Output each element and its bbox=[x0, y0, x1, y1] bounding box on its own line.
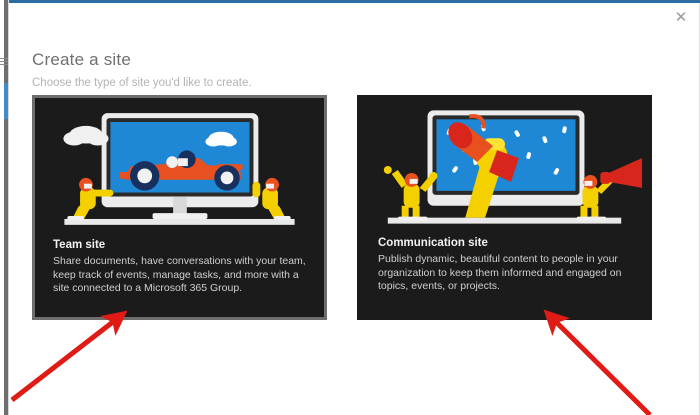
dialog-header: Create a site Choose the type of site yo… bbox=[32, 50, 452, 90]
menu-lines-icon bbox=[0, 58, 8, 67]
team-site-text: Team site Share documents, have conversa… bbox=[53, 238, 310, 296]
create-site-dialog: ✕ Create a site Choose the type of site … bbox=[0, 0, 700, 415]
card-description: Publish dynamic, beautiful content to pe… bbox=[378, 253, 637, 294]
window-accent-bar bbox=[9, 0, 700, 3]
site-type-card-communication-site[interactable]: Communication site Publish dynamic, beau… bbox=[357, 95, 652, 320]
card-description: Share documents, have conversations with… bbox=[53, 255, 310, 296]
card-title: Team site bbox=[53, 238, 310, 252]
dialog-left-border bbox=[8, 0, 9, 415]
team-site-illustration bbox=[35, 102, 324, 237]
communication-site-illustration bbox=[358, 100, 651, 235]
close-icon[interactable]: ✕ bbox=[668, 5, 694, 29]
card-title: Communication site bbox=[378, 236, 637, 250]
communication-site-text: Communication site Publish dynamic, beau… bbox=[378, 236, 637, 294]
site-type-card-team-site[interactable]: Team site Share documents, have conversa… bbox=[32, 95, 327, 320]
page-title: Create a site bbox=[32, 50, 452, 70]
page-subtitle: Choose the type of site you'd like to cr… bbox=[32, 76, 452, 90]
arrow-pointing-to-team-site bbox=[12, 318, 118, 400]
arrow-pointing-to-communication-site bbox=[552, 318, 650, 415]
